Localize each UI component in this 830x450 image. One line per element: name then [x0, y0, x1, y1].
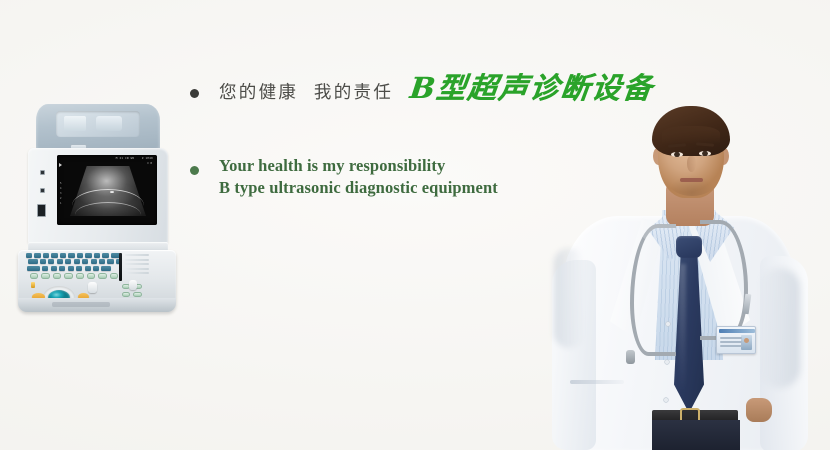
- vent-slot: [125, 259, 149, 261]
- coat-pocket: [570, 380, 624, 384]
- keyboard-key[interactable]: [68, 266, 74, 271]
- function-key[interactable]: [87, 273, 95, 278]
- coat-shadow: [554, 248, 584, 348]
- product-name-en: B type ultrasonic diagnostic equipment: [219, 177, 498, 199]
- keyboard-key[interactable]: [102, 253, 108, 258]
- keyboard-key[interactable]: [27, 266, 40, 271]
- promo-banner: M 21 CN WR Z 1H40 C 8 5 4 3 2 1: [0, 0, 830, 450]
- device-base: [18, 250, 176, 312]
- keyboard-key[interactable]: [85, 253, 91, 258]
- keyboard-key[interactable]: [42, 266, 48, 271]
- eye-right: [699, 151, 711, 156]
- keyboard-key[interactable]: [76, 266, 82, 271]
- coat-button: [666, 322, 670, 326]
- function-key[interactable]: [98, 273, 106, 278]
- id-badge: [716, 326, 756, 354]
- keyboard-key[interactable]: [93, 266, 99, 271]
- vent-slot: [125, 254, 149, 256]
- screen-focus-marker-icon: [59, 163, 62, 167]
- keyboard-key[interactable]: [107, 259, 113, 264]
- id-badge-photo: [741, 335, 752, 350]
- device-lid: [36, 104, 160, 152]
- keyboard-key[interactable]: [101, 266, 111, 271]
- keyboard-key[interactable]: [60, 253, 66, 258]
- keyboard-key[interactable]: [28, 259, 38, 264]
- depth-knob[interactable]: [129, 280, 137, 290]
- probe-port-icon: [40, 188, 45, 193]
- mouth: [680, 178, 703, 182]
- keyboard-key[interactable]: [40, 259, 46, 264]
- id-badge-line: [720, 345, 742, 347]
- necktie-highlight: [679, 264, 686, 394]
- power-indicator-icon: [31, 282, 35, 288]
- connector-port-icon: [37, 204, 46, 217]
- nose: [687, 156, 696, 172]
- keyboard-key[interactable]: [74, 259, 80, 264]
- id-badge-line: [720, 341, 742, 343]
- key-row-function: [122, 292, 142, 297]
- device-handle-recess: [56, 111, 140, 137]
- gain-knob[interactable]: [88, 282, 97, 293]
- slogan-cn: 您的健康 我的责任: [219, 84, 393, 103]
- function-key[interactable]: [64, 273, 72, 278]
- function-key[interactable]: [41, 273, 49, 278]
- bullet-icon: [190, 166, 199, 175]
- device-front-edge: [18, 298, 176, 312]
- keyboard-key[interactable]: [85, 266, 91, 271]
- keyboard-key[interactable]: [43, 253, 49, 258]
- screen-osd-depth-scale: 5 4 3 2 1: [60, 181, 61, 206]
- function-key[interactable]: [122, 292, 130, 297]
- eye-left: [671, 152, 683, 157]
- screen-osd-top: M 21 CN WR Z 1H40: [116, 157, 153, 160]
- keyboard-key[interactable]: [57, 259, 63, 264]
- keyboard-key[interactable]: [91, 259, 97, 264]
- keyboard-key[interactable]: [59, 266, 65, 271]
- necktie-knot: [676, 236, 702, 258]
- function-key[interactable]: [110, 273, 118, 278]
- vent-slot: [125, 268, 149, 270]
- tgc-slider[interactable]: [119, 253, 122, 281]
- id-badge-text-lines: [720, 337, 742, 349]
- coat-button: [665, 360, 669, 364]
- portable-ultrasound-scanner: M 21 CN WR Z 1H40 C 8 5 4 3 2 1: [18, 104, 176, 320]
- probe-port-icon: [40, 170, 45, 175]
- vent-slots: [125, 254, 151, 280]
- trousers: [652, 420, 740, 450]
- screen-osd-top-secondary: C 8: [147, 162, 152, 165]
- vent-slot: [125, 272, 149, 274]
- keyboard-key[interactable]: [94, 253, 100, 258]
- hair: [652, 106, 730, 156]
- hand: [746, 398, 772, 422]
- vent-slot: [125, 263, 149, 265]
- keyboard-key[interactable]: [51, 253, 57, 258]
- english-copy-block: Your health is my responsibility B type …: [219, 155, 498, 199]
- function-key[interactable]: [76, 273, 84, 278]
- keyboard-key[interactable]: [34, 253, 40, 258]
- function-key[interactable]: [133, 292, 141, 297]
- id-badge-header: [719, 329, 755, 333]
- keyboard-key[interactable]: [77, 253, 83, 258]
- keyboard-key[interactable]: [26, 253, 32, 258]
- function-key[interactable]: [30, 273, 38, 278]
- keyboard-key[interactable]: [68, 253, 74, 258]
- scan-marker-dot: [110, 191, 114, 193]
- male-doctor-photo: [548, 98, 810, 450]
- ultrasound-screen: M 21 CN WR Z 1H40 C 8 5 4 3 2 1: [57, 155, 157, 225]
- slogan-en: Your health is my responsibility: [219, 155, 498, 177]
- stethoscope-earpiece: [626, 350, 635, 364]
- device-display-housing: M 21 CN WR Z 1H40 C 8 5 4 3 2 1: [28, 148, 168, 244]
- bullet-icon: [190, 89, 199, 98]
- id-badge-line: [720, 337, 742, 339]
- keyboard-key[interactable]: [65, 259, 71, 264]
- device-port-panel: [34, 164, 54, 228]
- keyboard-key[interactable]: [48, 259, 54, 264]
- coat-shadow: [760, 268, 800, 388]
- coat-button: [664, 398, 668, 402]
- keyboard-key[interactable]: [82, 259, 88, 264]
- keyboard-key[interactable]: [51, 266, 57, 271]
- function-key[interactable]: [53, 273, 61, 278]
- keyboard-key[interactable]: [99, 259, 105, 264]
